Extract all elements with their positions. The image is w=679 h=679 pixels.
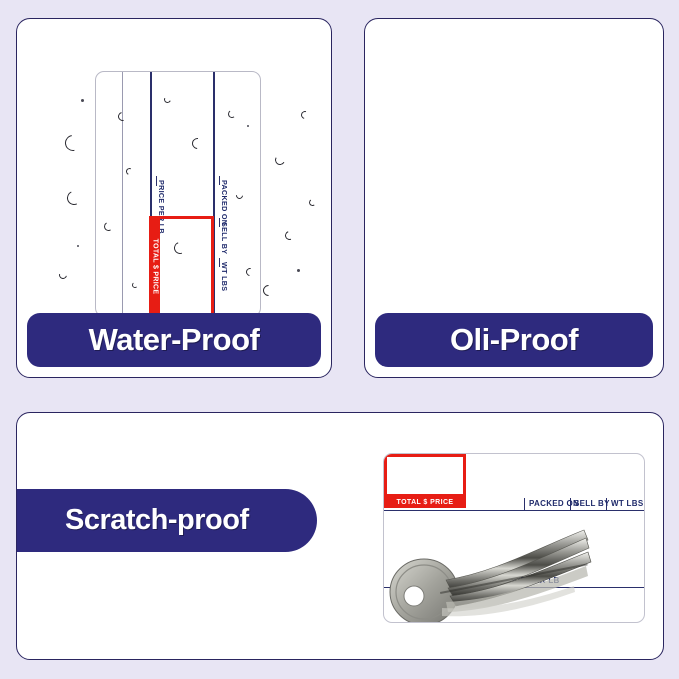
water-droplet <box>300 110 311 121</box>
water-droplet <box>163 95 172 104</box>
feature-banner-scratch: Scratch-proof <box>17 489 317 552</box>
label-field-wt-lbs: WT LBS <box>611 499 643 508</box>
water-droplet <box>261 283 277 299</box>
label-field-sell-by: SELL BY <box>220 222 229 254</box>
water-speck <box>247 125 249 127</box>
water-droplet <box>62 132 84 154</box>
water-speck <box>81 99 84 102</box>
water-droplet <box>116 110 128 122</box>
feature-banner-water: Water-Proof <box>27 313 321 367</box>
water-speck <box>297 269 300 272</box>
label-divider-line <box>122 72 123 316</box>
water-droplet <box>125 167 134 176</box>
water-droplet <box>103 221 114 232</box>
feature-banner-label: Scratch-proof <box>65 504 249 537</box>
feature-banner-label: Oli-Proof <box>450 322 578 358</box>
label-field-wt-lbs: WT LBS <box>220 262 229 291</box>
feature-banner-oil: Oli-Proof <box>375 313 653 367</box>
key-icon <box>388 522 598 623</box>
water-droplet <box>58 270 69 281</box>
meat-label-scratch: PACKED ON SELL BY WT LBS PRICE PER LB TO… <box>383 453 645 623</box>
water-droplet <box>274 154 286 166</box>
water-droplet <box>190 136 205 151</box>
label-tick <box>524 498 525 510</box>
product-feature-collage: PRICE PER LB PACKED ON SELL BY WT LBS TO… <box>0 0 679 679</box>
water-droplet <box>284 230 296 242</box>
water-droplet <box>227 109 236 118</box>
feature-card-oil: PRICE PER LB PACKED ON SELL BY WT LBS TO… <box>364 18 664 378</box>
feature-card-water: PRICE PER LB PACKED ON SELL BY WT LBS TO… <box>16 18 332 378</box>
feature-card-scratch: Scratch-proof PACKED ON SELL BY WT LBS P… <box>16 412 664 660</box>
water-droplet <box>132 282 139 289</box>
total-price-box <box>384 454 466 497</box>
meat-label-water: PRICE PER LB PACKED ON SELL BY WT LBS TO… <box>95 71 261 317</box>
water-speck <box>77 245 79 247</box>
total-price-tab: TOTAL $ PRICE <box>149 216 160 316</box>
label-field-packed-on: PACKED ON <box>529 499 579 508</box>
total-price-label: TOTAL $ PRICE <box>151 238 158 294</box>
total-price-label: TOTAL $ PRICE <box>397 499 454 506</box>
water-droplet <box>308 198 316 206</box>
water-droplet <box>65 189 83 207</box>
total-price-tab: TOTAL $ PRICE <box>384 497 466 508</box>
water-droplet <box>235 191 245 201</box>
label-field-packed-on: PACKED ON <box>220 180 229 225</box>
label-divider-line <box>384 510 644 511</box>
label-field-sell-by: SELL BY <box>574 499 610 508</box>
feature-banner-label: Water-Proof <box>89 322 260 358</box>
water-droplet <box>244 266 255 277</box>
